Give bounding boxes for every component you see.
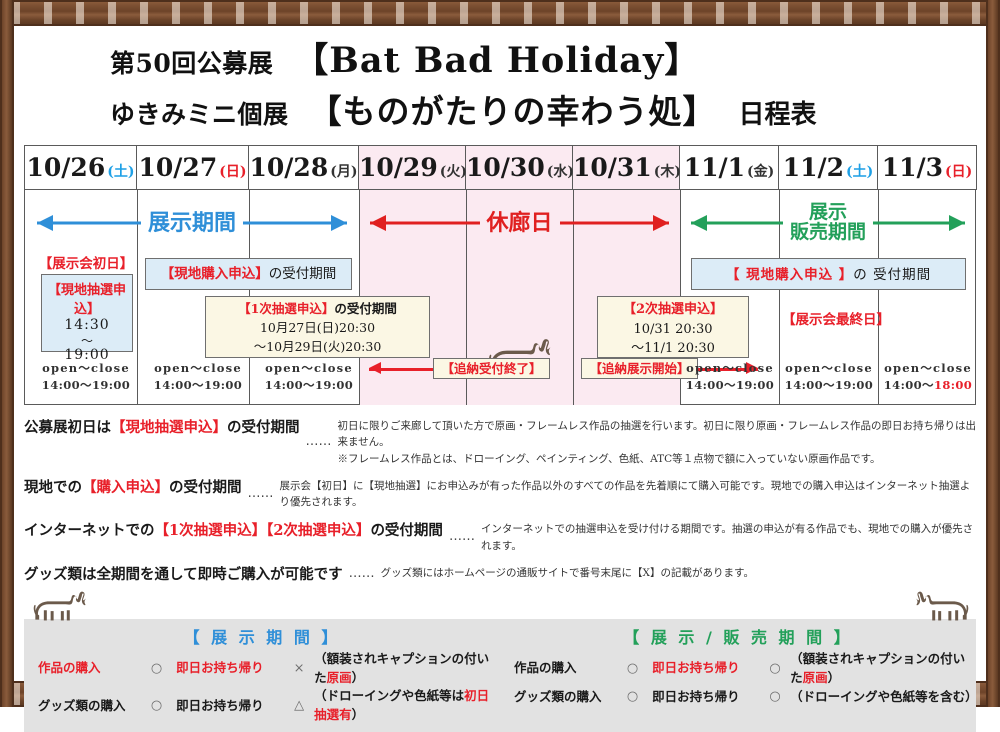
reception-end-tag: 【追納受付終了】 bbox=[433, 358, 550, 379]
exhibition-title-en: 【Bat Bad Holiday】 bbox=[293, 32, 700, 83]
note-head-pre: 現地での bbox=[24, 479, 82, 496]
closed-period-arrow: 休廊日 bbox=[370, 206, 669, 240]
open-close-2: open〜close 14:00〜19:00 bbox=[261, 360, 357, 393]
sale-period-label-line2: 販売期間 bbox=[790, 221, 866, 243]
weekday-text: (木) bbox=[654, 164, 681, 180]
note-dots: …… bbox=[300, 434, 338, 449]
legend-cell-action-mark: × bbox=[284, 659, 314, 679]
exhibition-number: 第50回公募展 bbox=[110, 44, 273, 80]
legend-cell-mark: ○ bbox=[613, 687, 652, 707]
onsite-lottery-tilde: 〜 bbox=[42, 335, 132, 348]
legend-column-exhibit: 【 展 示 期 間 】 作品の購入 ○ 即日お持ち帰り × （額装されキャプショ… bbox=[24, 624, 500, 725]
first-lottery-box: 【1次抽選申込】の受付期間 10月27日(日)20:30 〜10月29日(火)2… bbox=[205, 296, 430, 358]
date-text: 10/26 bbox=[27, 153, 106, 182]
first-lottery-line3: 〜10月29日(火)20:30 bbox=[206, 338, 429, 357]
note-dots: …… bbox=[242, 486, 280, 501]
sale-period-arrow: 展示 販売期間 bbox=[691, 206, 965, 240]
note-head: インターネットでの【1次抽選申込】【2次抽選申込】の受付期間 bbox=[24, 519, 443, 540]
legend-cell-item: グッズ類の購入 bbox=[514, 688, 613, 707]
note-head-post: の受付期間 bbox=[370, 522, 443, 539]
first-lottery-line2: 10月27日(日)20:30 bbox=[206, 319, 429, 338]
sale-period-label: 展示 販売期間 bbox=[783, 203, 873, 243]
note-head-red: 【1次抽選申込】【2次抽選申込】 bbox=[155, 522, 371, 539]
note-head-post: の受付期間 bbox=[169, 479, 242, 496]
second-lottery-line2: 10/31 20:30 bbox=[598, 320, 748, 340]
note-head-pre: 公募展初日は bbox=[24, 419, 111, 436]
open-close-label: open〜close bbox=[781, 360, 877, 377]
legend-title-sale: 【 展 示 / 販 売 期 間 】 bbox=[500, 624, 976, 648]
open-close-label: open〜close bbox=[261, 360, 357, 377]
note-body: インターネットでの抽選申込を受け付ける期間です。抽選の申込が有る作品でも、現地で… bbox=[481, 519, 976, 554]
date-cell-0: 10/26(土) bbox=[25, 146, 137, 190]
onsite-purchase-box-right: 【 現地購入申込 】の 受付期間 【 現地購入申込 】の 受付期間 bbox=[691, 258, 966, 290]
date-header-row: 10/26(土) 10/27(日) 10/28(月) 10/29(火) 10/3… bbox=[25, 146, 977, 190]
onsite-purchase-box-left: 【現地購入申込】の受付期間 【現地購入申込】の受付期間 bbox=[145, 258, 352, 290]
open-close-time-last-prefix: 14:00〜 bbox=[884, 378, 934, 392]
date-text: 11/1 bbox=[684, 153, 745, 182]
legend-note-pre: （ドローイングや色紙等は bbox=[314, 688, 464, 703]
legend-row: グッズ類の購入 ○ 即日お持ち帰り △ （ドローイングや色紙等は初日抽選有） bbox=[24, 687, 500, 725]
date-cell-2: 10/28(月) bbox=[249, 146, 359, 190]
weekday-text: (土) bbox=[846, 164, 873, 180]
note-body: 展示会【初日】に【現地抽選】にお申込みが有った作品以外のすべての作品を先着順にて… bbox=[280, 476, 977, 511]
decorative-frame-right bbox=[986, 0, 1000, 707]
open-close-time: 14:00〜19:00 bbox=[261, 377, 357, 394]
open-close-label: open〜close bbox=[37, 360, 135, 377]
extra-exhibit-start-tag: 【追納展示開始】 bbox=[581, 358, 698, 379]
legend-cell-note: （ドローイングや色紙等は初日抽選有） bbox=[314, 687, 500, 725]
legend-cell-action-mark: ○ bbox=[760, 687, 790, 707]
date-text: 11/2 bbox=[783, 153, 844, 182]
onsite-lottery-from: 14:30 bbox=[42, 317, 132, 335]
weekday-text: (金) bbox=[747, 164, 774, 180]
legend-note-pre: （ドローイングや色紙等を含む） bbox=[790, 689, 978, 704]
note-body: 初日に限りご来廊して頂いた方で原画・フレームレス作品の抽選を行います。初日に限り… bbox=[338, 416, 977, 467]
note-head-red: 【現地抽選申込】 bbox=[111, 419, 227, 436]
legend-row: 作品の購入 ○ 即日お持ち帰り ○ （額装されキャプションの付いた原画） bbox=[500, 650, 976, 688]
open-close-6: open〜close 14:00〜19:00 bbox=[682, 360, 778, 393]
open-close-time-last: 14:00〜18:00 bbox=[880, 377, 976, 394]
date-cell-8: 11/3(日) bbox=[878, 146, 977, 190]
date-text: 11/3 bbox=[882, 153, 943, 182]
note-head-post: の受付期間 bbox=[227, 419, 300, 436]
open-close-8: open〜close 14:00〜18:00 bbox=[880, 360, 976, 393]
second-lottery-title: 【2次抽選申込】 bbox=[598, 300, 748, 320]
note-head-red: 【購入申込】 bbox=[82, 479, 169, 496]
reception-end-arrow-head bbox=[369, 362, 381, 374]
poster-page: 第50回公募展 【Bat Bad Holiday】 ゆきみミニ個展 【ものがたり… bbox=[14, 26, 986, 681]
legend-cell-action-mark: △ bbox=[284, 696, 314, 716]
legend-table: 【 展 示 期 間 】 作品の購入 ○ 即日お持ち帰り × （額装されキャプショ… bbox=[24, 619, 976, 732]
onsite-lottery-title: 【現地抽選申込】 bbox=[42, 279, 132, 317]
legend-cell-note: （額装されキャプションの付いた原画） bbox=[790, 650, 976, 688]
solo-exhibition-title: 【ものがたりの幸わう処】 bbox=[309, 85, 717, 133]
date-text: 10/27 bbox=[139, 153, 218, 182]
note-item: 公募展初日は【現地抽選申込】の受付期間 …… 初日に限りご来廊して頂いた方で原画… bbox=[24, 416, 976, 467]
legend-note-post: ） bbox=[352, 670, 365, 685]
legend-note-post: ） bbox=[828, 670, 841, 685]
decorative-frame-left bbox=[0, 0, 14, 707]
legend-cats-row bbox=[24, 593, 976, 619]
date-text: 10/28 bbox=[250, 153, 329, 182]
cat-silhouette-icon bbox=[28, 589, 92, 627]
weekday-text: (火) bbox=[440, 164, 467, 180]
closed-period-label: 休廊日 bbox=[479, 212, 559, 234]
last-day-tag: 【展示会最終日】 bbox=[782, 308, 875, 328]
note-dots: …… bbox=[343, 566, 381, 581]
date-text: 10/30 bbox=[466, 153, 545, 182]
schedule-board: 展示期間 休廊日 展示 販売期間 【展示会初日】 【現地抽選申込】 14:30 … bbox=[24, 190, 976, 405]
open-close-time: 14:00〜19:00 bbox=[37, 377, 135, 394]
note-head: グッズ類は全期間を通して即時ご購入が可能です bbox=[24, 563, 343, 584]
open-close-time-last-red: 18:00 bbox=[934, 378, 972, 392]
legend-cell-note: （額装されキャプションの付いた原画） bbox=[314, 650, 500, 688]
weekday-text: (日) bbox=[945, 164, 972, 180]
note-body-line1: 初日に限りご来廊して頂いた方で原画・フレームレス作品の抽選を行います。初日に限り… bbox=[338, 418, 977, 451]
open-close-1: open〜close 14:00〜19:00 bbox=[149, 360, 247, 393]
note-item: インターネットでの【1次抽選申込】【2次抽選申込】の受付期間 …… インターネッ… bbox=[24, 519, 976, 554]
exhibit-period-label: 展示期間 bbox=[141, 212, 243, 234]
date-cell-5: 10/31(木) bbox=[573, 146, 680, 190]
note-head-pre: インターネットでの bbox=[24, 522, 155, 539]
legend-cell-action: 即日お持ち帰り bbox=[652, 659, 760, 678]
legend-note-post: ） bbox=[352, 707, 365, 722]
date-cell-4: 10/30(水) bbox=[466, 146, 573, 190]
weekday-text: (日) bbox=[219, 164, 246, 180]
note-body-line1: 展示会【初日】に【現地抽選】にお申込みが有った作品以外のすべての作品を先着順にて… bbox=[280, 478, 977, 511]
legend-cell-action-mark: ○ bbox=[760, 659, 790, 679]
weekday-text: (水) bbox=[547, 164, 574, 180]
legend-cell-item: 作品の購入 bbox=[38, 659, 137, 678]
open-close-0: open〜close 14:00〜19:00 bbox=[37, 360, 135, 393]
exhibit-period-arrow: 展示期間 bbox=[37, 206, 347, 240]
legend-cell-action: 即日お持ち帰り bbox=[652, 688, 760, 707]
legend-cell-action: 即日お持ち帰り bbox=[176, 697, 284, 716]
schedule-label: 日程表 bbox=[739, 94, 817, 131]
legend-note-red: 原画 bbox=[327, 670, 352, 685]
legend-cell-note: （ドローイングや色紙等を含む） bbox=[790, 688, 976, 707]
open-close-time: 14:00〜19:00 bbox=[682, 377, 778, 394]
notes-section: 公募展初日は【現地抽選申込】の受付期間 …… 初日に限りご来廊して頂いた方で原画… bbox=[24, 416, 976, 584]
second-lottery-line3: 〜11/1 20:30 bbox=[598, 339, 748, 359]
note-body: グッズ類にはホームページの通販サイトで番号末尾に【X】の記載があります。 bbox=[381, 563, 754, 581]
note-head: 現地での【購入申込】の受付期間 bbox=[24, 476, 242, 497]
sale-period-label-line1: 展示 bbox=[809, 201, 847, 223]
legend-note-red: 原画 bbox=[803, 670, 828, 685]
legend-cell-mark: ○ bbox=[137, 659, 176, 679]
note-head: 公募展初日は【現地抽選申込】の受付期間 bbox=[24, 416, 300, 437]
title-line-1: 第50回公募展 【Bat Bad Holiday】 bbox=[110, 32, 976, 83]
legend-cell-item: 作品の購入 bbox=[514, 659, 613, 678]
cat-silhouette-icon bbox=[910, 589, 974, 627]
open-close-time: 14:00〜19:00 bbox=[781, 377, 877, 394]
note-item: 現地での【購入申込】の受付期間 …… 展示会【初日】に【現地抽選】にお申込みが有… bbox=[24, 476, 976, 511]
legend-cell-item: グッズ類の購入 bbox=[38, 697, 137, 716]
second-lottery-box: 【2次抽選申込】 10/31 20:30 〜11/1 20:30 bbox=[597, 296, 749, 358]
title-line-2: ゆきみミニ個展 【ものがたりの幸わう処】 日程表 bbox=[110, 85, 976, 133]
date-header-table: 10/26(土) 10/27(日) 10/28(月) 10/29(火) 10/3… bbox=[24, 145, 977, 190]
onsite-lottery-box: 【現地抽選申込】 14:30 〜 19:00 bbox=[41, 274, 133, 352]
weekday-text: (土) bbox=[107, 164, 134, 180]
date-text: 10/31 bbox=[573, 153, 652, 182]
date-cell-7: 11/2(土) bbox=[779, 146, 878, 190]
note-item: グッズ類は全期間を通して即時ご購入が可能です …… グッズ類にはホームページの通… bbox=[24, 563, 976, 584]
legend-cell-action: 即日お持ち帰り bbox=[176, 659, 284, 678]
note-dots: …… bbox=[443, 529, 481, 544]
decorative-frame-top bbox=[0, 0, 1000, 26]
legend-row: 作品の購入 ○ 即日お持ち帰り × （額装されキャプションの付いた原画） bbox=[24, 650, 500, 688]
legend-title-exhibit: 【 展 示 期 間 】 bbox=[24, 624, 500, 648]
solo-exhibition-label: ゆきみミニ個展 bbox=[110, 95, 289, 131]
date-cell-1: 10/27(日) bbox=[137, 146, 249, 190]
date-text: 10/29 bbox=[359, 153, 438, 182]
legend-cell-mark: ○ bbox=[613, 659, 652, 679]
open-close-label: open〜close bbox=[149, 360, 247, 377]
first-day-tag: 【展示会初日】 bbox=[37, 252, 135, 272]
date-cell-3: 10/29(火) bbox=[359, 146, 466, 190]
note-head-pre: グッズ類は全期間を通して即時ご購入が可能です bbox=[24, 566, 343, 583]
note-body-line2: ※フレームレス作品とは、ドローイング、ペインティング、色紙、ATC等１点物で額に… bbox=[338, 451, 977, 467]
open-close-label: open〜close bbox=[682, 360, 778, 377]
title-block: 第50回公募展 【Bat Bad Holiday】 ゆきみミニ個展 【ものがたり… bbox=[110, 32, 976, 133]
note-body-line1: グッズ類にはホームページの通販サイトで番号末尾に【X】の記載があります。 bbox=[381, 565, 754, 581]
weekday-text: (月) bbox=[330, 164, 357, 180]
legend-section: 【 展 示 期 間 】 作品の購入 ○ 即日お持ち帰り × （額装されキャプショ… bbox=[24, 593, 976, 732]
note-body-line1: インターネットでの抽選申込を受け付ける期間です。抽選の申込が有る作品でも、現地で… bbox=[481, 521, 976, 554]
first-lottery-title: 【1次抽選申込】の受付期間 bbox=[206, 300, 429, 319]
open-close-7: open〜close 14:00〜19:00 bbox=[781, 360, 877, 393]
legend-row: グッズ類の購入 ○ 即日お持ち帰り ○ （ドローイングや色紙等を含む） bbox=[500, 687, 976, 707]
legend-cell-mark: ○ bbox=[137, 696, 176, 716]
open-close-label: open〜close bbox=[880, 360, 976, 377]
legend-column-sale: 【 展 示 / 販 売 期 間 】 作品の購入 ○ 即日お持ち帰り ○ （額装さ… bbox=[500, 624, 976, 725]
open-close-time: 14:00〜19:00 bbox=[149, 377, 247, 394]
date-cell-6: 11/1(金) bbox=[680, 146, 779, 190]
